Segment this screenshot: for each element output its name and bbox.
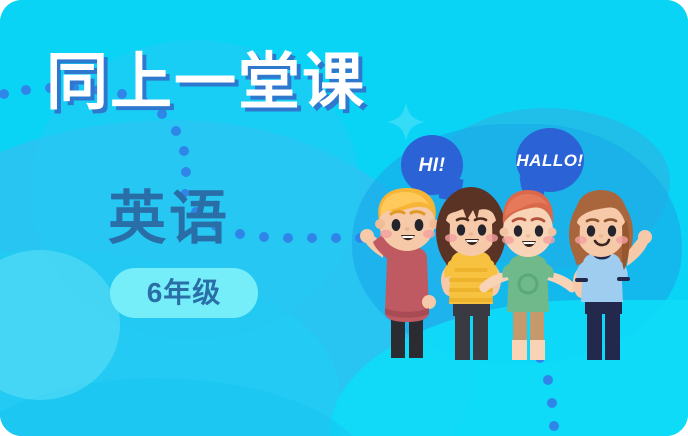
grade-badge: 6年级 bbox=[110, 268, 258, 318]
page-title: 同上一堂课 bbox=[46, 52, 366, 114]
decorative-dot bbox=[543, 375, 553, 385]
character-girl-brunette bbox=[436, 187, 506, 360]
children-illustration bbox=[355, 180, 675, 360]
grade-badge-label: 6年级 bbox=[147, 279, 222, 307]
character-boy-blond bbox=[360, 188, 439, 358]
character-girl-lightbrown bbox=[569, 190, 652, 360]
text-block: 同上一堂课 英语 6年级 bbox=[0, 0, 360, 436]
decorative-dot bbox=[549, 421, 559, 431]
decorative-dot bbox=[547, 398, 557, 408]
speech-bubble-hallo-text: HALLO! bbox=[516, 152, 583, 169]
subject-title: 英语 bbox=[108, 190, 230, 248]
course-cover-card: 同上一堂课 英语 6年级 HI! HALLO! bbox=[0, 0, 688, 436]
speech-bubble-hi-text: HI! bbox=[419, 156, 446, 175]
